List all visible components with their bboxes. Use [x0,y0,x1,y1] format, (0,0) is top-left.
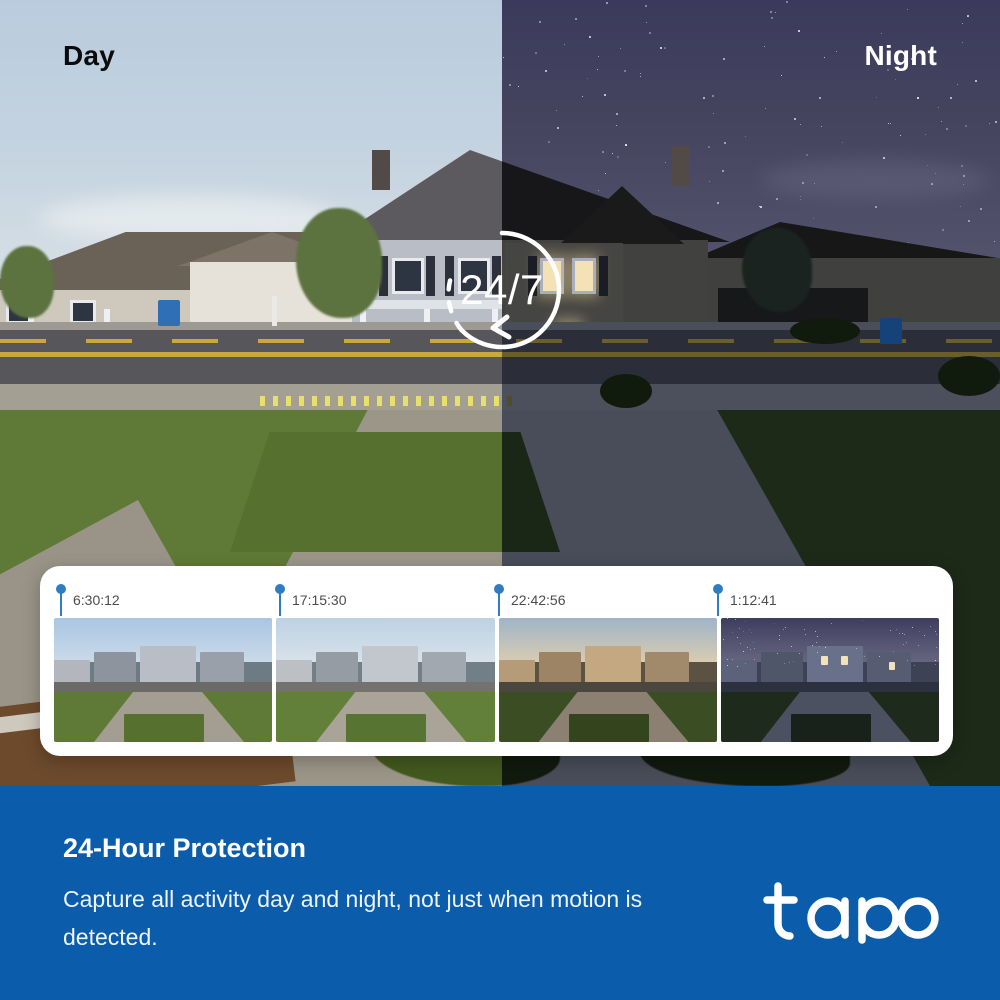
timeline-pin-icon [56,584,66,616]
banner-title: 24-Hour Protection [63,833,306,864]
lawn-patch [230,432,502,552]
timeline-thumbnail[interactable] [276,618,494,742]
timeline-card: 6:30:12 17:15:30 22:42:56 1:12:41 [40,566,953,756]
bottom-banner: 24-Hour Protection Capture all activity … [0,786,1000,1000]
timeline-pin-icon [713,584,723,616]
banner-body: Capture all activity day and night, not … [63,880,713,956]
street-center-line [0,352,502,357]
timeline-thumbnail[interactable] [499,618,717,742]
tapo-logo [762,878,940,949]
timeline-marker[interactable]: 6:30:12 [56,584,120,616]
24-7-badge: 24/7 [437,225,567,355]
street-dashes [0,339,502,343]
24-7-badge-text: 24/7 [437,225,567,355]
timeline-thumbnail[interactable] [721,618,939,742]
recycling-bin [158,300,180,326]
timeline-pin-icon [494,584,504,616]
timeline-marker[interactable]: 17:15:30 [275,584,347,616]
timeline-marker[interactable]: 1:12:41 [713,584,777,616]
timeline-pin-icon [275,584,285,616]
timeline-time: 1:12:41 [730,584,777,607]
promo-graphic: Day Night 24/7 6:30:12 17:15:30 [0,0,1000,1000]
timeline-time: 17:15:30 [292,584,347,607]
timeline-time: 6:30:12 [73,584,120,607]
mailbox [272,296,277,326]
timeline-marker[interactable]: 22:42:56 [494,584,566,616]
timeline-thumbnails [54,618,939,742]
timeline-thumbnail[interactable] [54,618,272,742]
timeline-ticks: 6:30:12 17:15:30 22:42:56 1:12:41 [40,566,953,618]
timeline-time: 22:42:56 [511,584,566,607]
night-label: Night [864,40,937,72]
day-label: Day [63,40,115,72]
